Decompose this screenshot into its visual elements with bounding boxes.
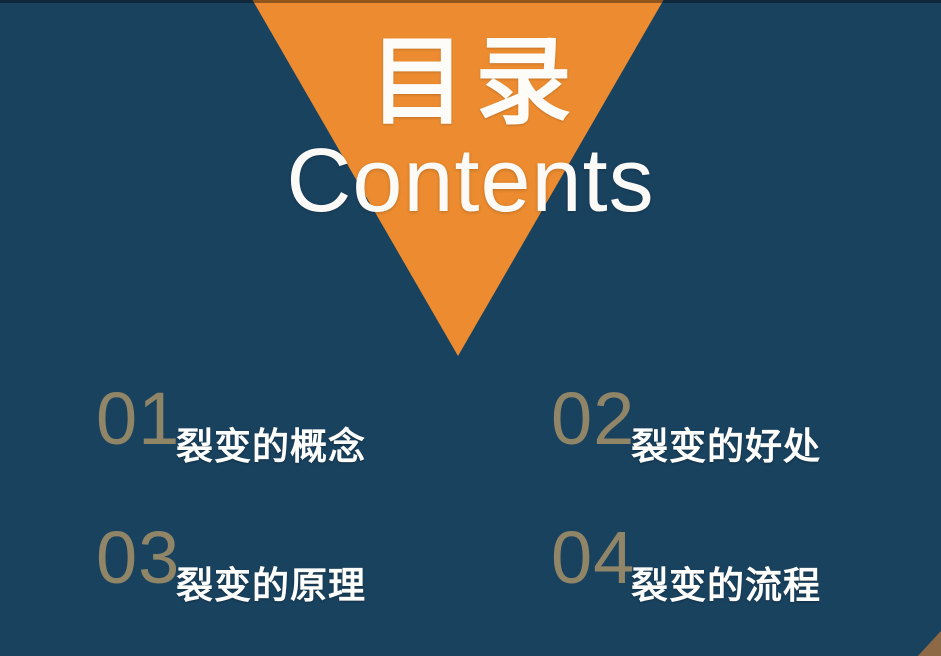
agenda-item-02[interactable]: 02 裂变的好处 xyxy=(543,378,941,517)
agenda-number-03: 03 xyxy=(96,521,180,595)
agenda-item-04[interactable]: 04 裂变的流程 xyxy=(543,517,941,656)
agenda-label-04: 裂变的流程 xyxy=(631,567,821,604)
agenda-label-03: 裂变的原理 xyxy=(176,567,366,604)
agenda-number-01: 01 xyxy=(96,382,180,456)
agenda-item-01[interactable]: 01 裂变的概念 xyxy=(88,378,531,517)
agenda-number-02: 02 xyxy=(551,382,635,456)
orange-triangle-decoration xyxy=(249,0,667,356)
agenda-label-02: 裂变的好处 xyxy=(631,428,821,465)
agenda-label-01: 裂变的概念 xyxy=(176,428,366,465)
agenda-list: 01 裂变的概念 02 裂变的好处 03 裂变的原理 04 裂变的流程 xyxy=(0,378,941,656)
agenda-number-04: 04 xyxy=(551,521,635,595)
presentation-slide: 目录 Contents 01 裂变的概念 02 裂变的好处 03 裂变的原理 0… xyxy=(0,0,941,656)
agenda-item-03[interactable]: 03 裂变的原理 xyxy=(88,517,531,656)
